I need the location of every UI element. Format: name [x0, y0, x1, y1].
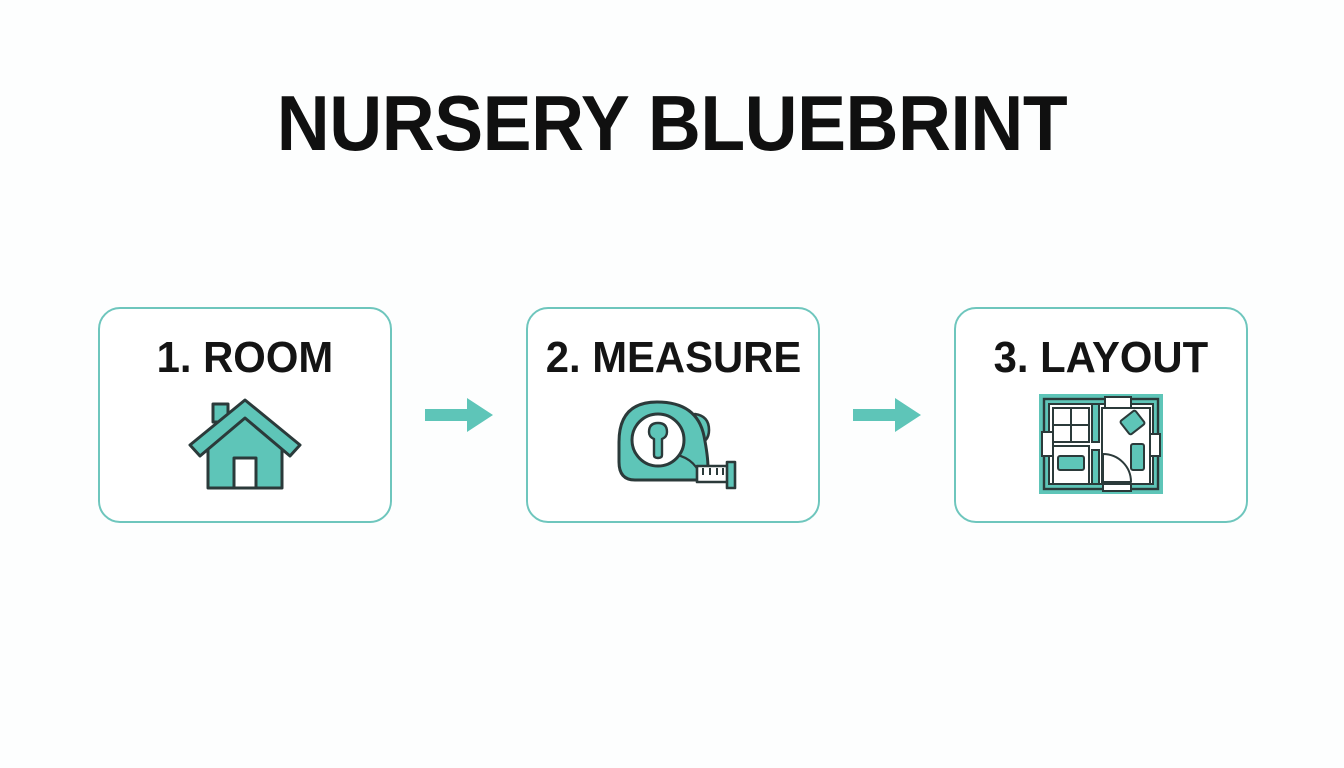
process-flow: 1. ROOM 2. MEASURE	[98, 307, 1248, 523]
step-card-layout[interactable]: 3. LAYOUT	[954, 307, 1248, 523]
step-card-room[interactable]: 1. ROOM	[98, 307, 392, 523]
step-label-layout: 3. LAYOUT	[994, 335, 1208, 381]
step-label-room: 1. ROOM	[157, 335, 334, 381]
tape-measure-icon	[608, 389, 738, 499]
step-card-measure[interactable]: 2. MEASURE	[526, 307, 820, 523]
slide-canvas: NURSERY BLUEBRINT 1. ROOM	[0, 0, 1344, 768]
page-title: NURSERY BLUEBRINT	[40, 78, 1303, 168]
arrow-right-icon	[848, 392, 926, 438]
house-icon	[180, 389, 310, 499]
floor-plan-icon	[1036, 389, 1166, 499]
step-label-measure: 2. MEASURE	[545, 335, 801, 381]
arrow-right-icon	[420, 392, 498, 438]
